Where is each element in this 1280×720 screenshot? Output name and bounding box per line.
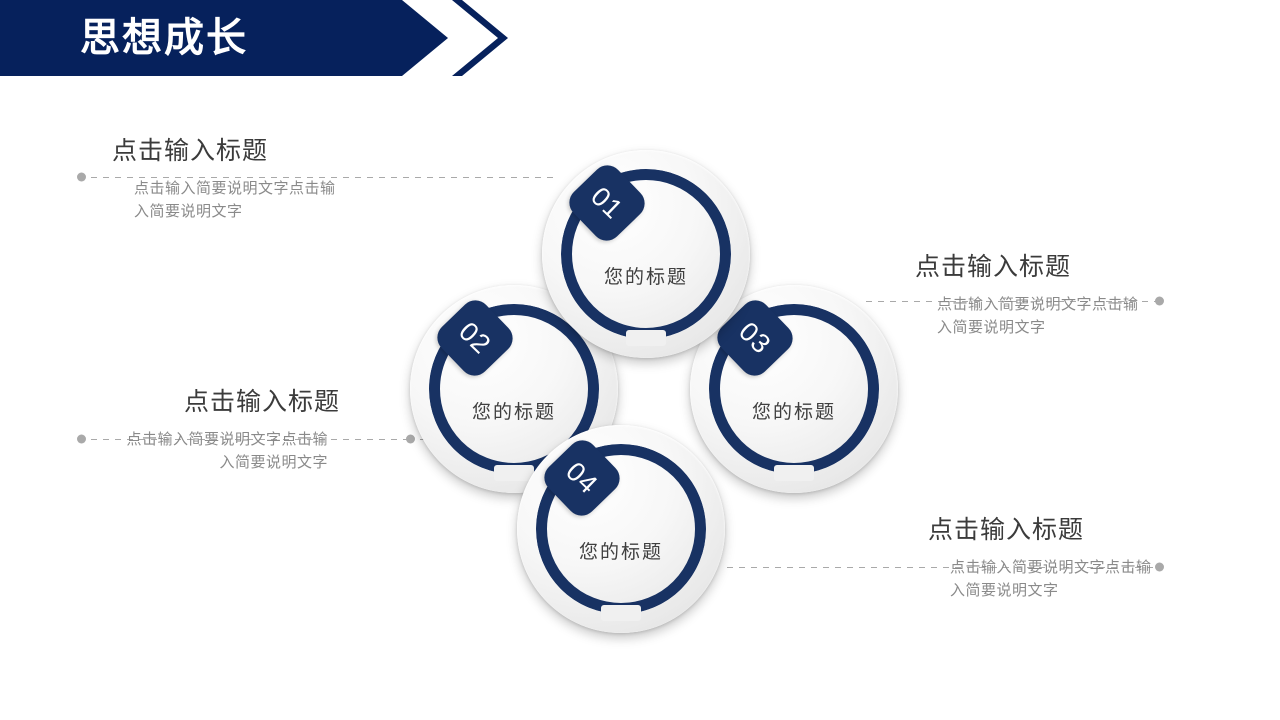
circle-node-04[interactable]: 04 您的标题 bbox=[517, 425, 725, 633]
page-title: 思想成长 bbox=[80, 8, 248, 68]
connector-dot-1 bbox=[77, 173, 86, 182]
node-number-01: 01 bbox=[586, 182, 628, 224]
slide-canvas: 思想成长 点击输入标题 点击输入简要说明文字点击输入简要说明文字 点击输入标题 … bbox=[0, 0, 1280, 720]
node-ring-gap bbox=[774, 465, 814, 481]
info-block-3[interactable]: 点击输入标题 点击输入简要说明文字点击输入简要说明文字 bbox=[915, 250, 1215, 339]
info-block-1[interactable]: 点击输入标题 点击输入简要说明文字点击输入简要说明文字 bbox=[112, 134, 412, 223]
info-block-4[interactable]: 点击输入标题 点击输入简要说明文字点击输入简要说明文字 bbox=[928, 513, 1228, 602]
chevron-right-icon bbox=[452, 0, 508, 76]
info-title-4: 点击输入标题 bbox=[928, 513, 1228, 547]
node-label-04: 您的标题 bbox=[517, 537, 725, 564]
node-number-04: 04 bbox=[561, 457, 603, 499]
info-title-3: 点击输入标题 bbox=[915, 250, 1215, 284]
info-block-2[interactable]: 点击输入标题 点击输入简要说明文字点击输入简要说明文字 bbox=[40, 385, 340, 474]
header-banner: 思想成长 bbox=[0, 0, 520, 76]
node-label-03: 您的标题 bbox=[690, 397, 898, 424]
node-ring-gap bbox=[626, 330, 666, 346]
info-title-1: 点击输入标题 bbox=[112, 134, 412, 168]
info-desc-3: 点击输入简要说明文字点击输入简要说明文字 bbox=[937, 293, 1152, 339]
node-number-02: 02 bbox=[454, 317, 496, 359]
info-desc-2: 点击输入简要说明文字点击输入简要说明文字 bbox=[113, 428, 328, 474]
node-label-01: 您的标题 bbox=[542, 262, 750, 289]
node-ring-gap bbox=[601, 605, 641, 621]
info-desc-1: 点击输入简要说明文字点击输入简要说明文字 bbox=[134, 177, 349, 223]
info-desc-4: 点击输入简要说明文字点击输入简要说明文字 bbox=[950, 556, 1165, 602]
circle-node-01[interactable]: 01 您的标题 bbox=[542, 150, 750, 358]
info-title-2: 点击输入标题 bbox=[40, 385, 340, 419]
node-label-02: 您的标题 bbox=[410, 397, 618, 424]
